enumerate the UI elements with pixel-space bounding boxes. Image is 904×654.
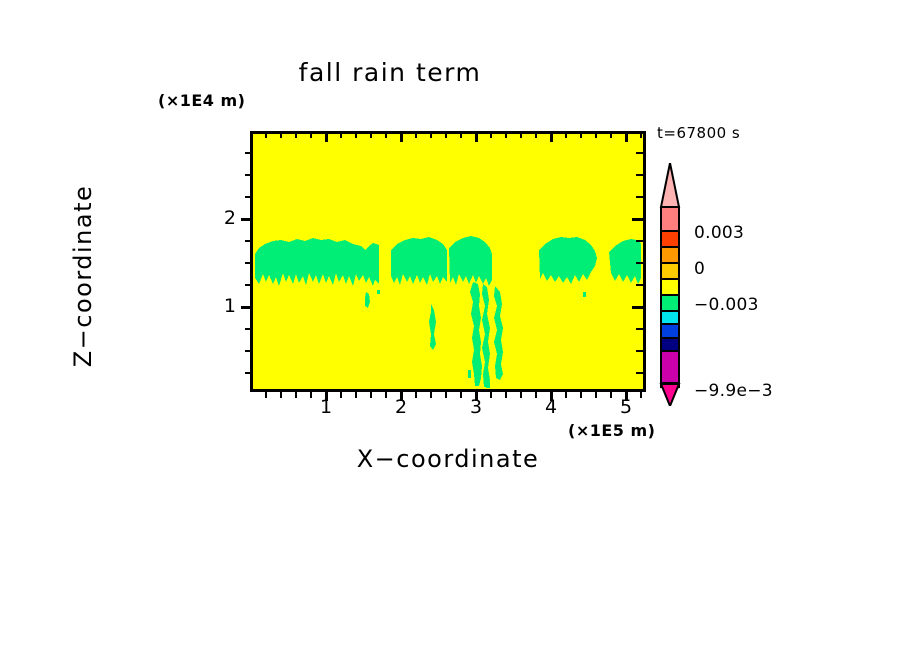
x-tick-top-minor — [280, 131, 282, 138]
y-tick-minor — [245, 174, 252, 176]
x-tick-top-minor — [415, 131, 417, 138]
y-tick-minor — [245, 262, 252, 264]
x-tick-minor — [430, 392, 432, 398]
x-tick-minor — [595, 392, 597, 398]
x-tick-top-minor — [295, 131, 297, 138]
x-tick-top-major — [400, 131, 403, 142]
x-tick-minor — [265, 392, 267, 398]
y-tick-right-minor — [636, 240, 643, 242]
x-tick-minor — [580, 392, 582, 398]
x-tick-top-minor — [460, 131, 462, 138]
y-tick-right-major — [632, 306, 643, 309]
x-tick-top-minor — [580, 131, 582, 138]
y-tick-right-minor — [636, 262, 643, 264]
x-tick-minor — [505, 392, 507, 398]
y-tick-minor — [245, 284, 252, 286]
x-tick-top-minor — [490, 131, 492, 138]
colorbar-label-neg: −0.003 — [694, 295, 759, 315]
y-tick-minor — [245, 240, 252, 242]
x-tick-top-minor — [340, 131, 342, 138]
x-tick-top-major — [475, 131, 478, 142]
x-tick-minor — [295, 392, 297, 398]
x-tick-top-minor — [520, 131, 522, 138]
x-tick-top-minor — [445, 131, 447, 138]
x-tick-top-minor — [505, 131, 507, 138]
x-tick-minor — [520, 392, 522, 398]
x-tick-top-major — [325, 131, 328, 142]
y-tick-right-minor — [636, 372, 643, 374]
x-tick-label-3: 3 — [456, 396, 496, 418]
x-axis-unit-label: (×1E5 m) — [568, 421, 655, 440]
figure-canvas: fall rain term (×1E4 m) t=67800 s Z−coor… — [0, 0, 904, 654]
page-title: fall rain term — [0, 58, 780, 87]
x-tick-minor — [355, 392, 357, 398]
y-tick-right-minor — [636, 152, 643, 154]
colorbar-lower-extension — [658, 351, 682, 406]
x-tick-minor — [445, 392, 447, 398]
x-tick-top-minor — [595, 131, 597, 138]
colorbar-label-min: −9.9e−3 — [694, 381, 773, 401]
y-axis-title: Z−coordinate — [69, 131, 97, 421]
y-tick-minor — [245, 196, 252, 198]
x-tick-label-2: 2 — [381, 396, 421, 418]
x-tick-top-minor — [430, 131, 432, 138]
x-tick-top-minor — [610, 131, 612, 138]
y-tick-minor — [245, 350, 252, 352]
y-tick-major-1 — [241, 306, 252, 309]
x-tick-label-4: 4 — [531, 396, 571, 418]
y-tick-right-minor — [636, 328, 643, 330]
x-tick-top-minor — [370, 131, 372, 138]
heatmap-field — [253, 134, 643, 389]
x-tick-top-minor — [265, 131, 267, 138]
colorbar-label-pos: 0.003 — [694, 223, 744, 243]
y-tick-label-2: 2 — [196, 207, 236, 229]
x-tick-top-minor — [385, 131, 387, 138]
x-tick-minor — [370, 392, 372, 398]
colorbar-label-zero: 0 — [694, 259, 705, 279]
y-tick-label-1: 1 — [196, 295, 236, 317]
x-tick-top-minor — [565, 131, 567, 138]
y-tick-right-minor — [636, 174, 643, 176]
x-tick-top-major — [550, 131, 553, 142]
x-axis-title: X−coordinate — [250, 445, 646, 473]
y-tick-right-minor — [636, 196, 643, 198]
y-tick-right-minor — [636, 284, 643, 286]
time-annotation: t=67800 s — [657, 124, 740, 142]
x-tick-label-1: 1 — [306, 396, 346, 418]
y-tick-minor — [245, 152, 252, 154]
x-tick-minor — [280, 392, 282, 398]
x-tick-top-minor — [640, 131, 642, 138]
x-tick-top-major — [625, 131, 628, 142]
y-tick-minor — [245, 328, 252, 330]
plot-area — [250, 131, 646, 392]
y-tick-major-2 — [241, 218, 252, 221]
y-tick-right-major — [632, 218, 643, 221]
x-tick-top-minor — [310, 131, 312, 138]
y-tick-right-minor — [636, 350, 643, 352]
x-tick-top-minor — [355, 131, 357, 138]
x-tick-top-minor — [535, 131, 537, 138]
y-axis-unit-label: (×1E4 m) — [158, 91, 245, 110]
x-tick-label-5: 5 — [606, 396, 646, 418]
y-tick-minor — [245, 372, 252, 374]
